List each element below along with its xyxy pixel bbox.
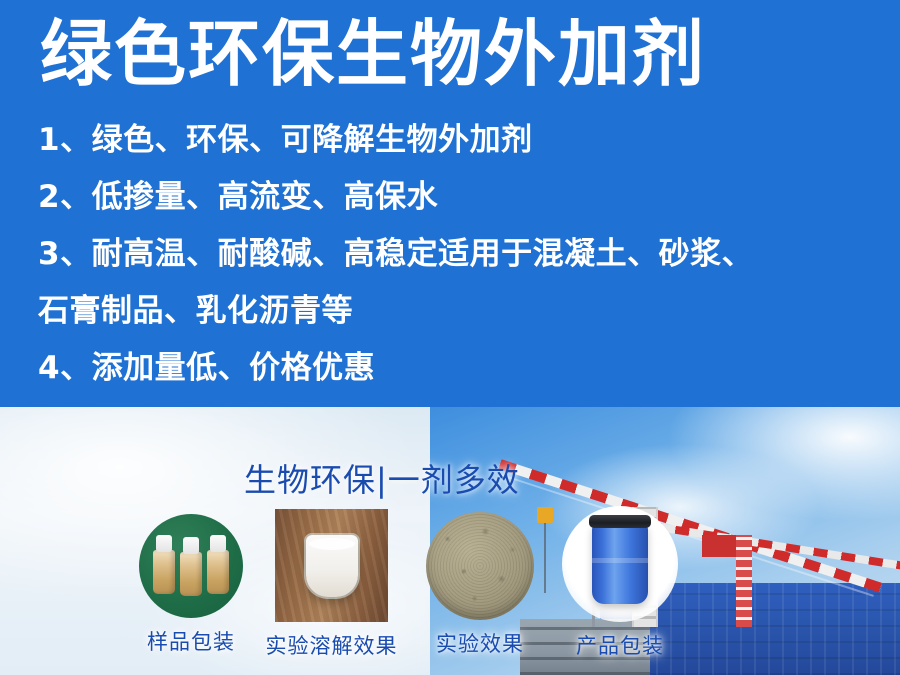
feature-item-3: 3、耐高温、耐酸碱、高稳定适用于混凝土、砂浆、 (38, 226, 878, 283)
gallery-item-caption: 实验效果 (436, 628, 524, 658)
gallery-item-experiment-result[interactable]: 实验效果 (426, 512, 534, 620)
construction-site-scene (480, 407, 900, 675)
feature-item-1: 1、绿色、环保、可降解生物外加剂 (38, 112, 878, 169)
gallery-item-sample-packaging[interactable]: 样品包装 (139, 514, 243, 618)
glass-beaker-icon (306, 535, 358, 597)
headline-panel: 绿色环保生物外加剂 1、绿色、环保、可降解生物外加剂 2、低掺量、高流变、高保水… (0, 0, 900, 407)
bottle-icon (153, 550, 175, 594)
gallery-item-caption: 产品包装 (576, 630, 664, 660)
feature-item-4: 4、添加量低、价格优惠 (38, 340, 878, 397)
feature-item-2: 2、低掺量、高流变、高保水 (38, 169, 878, 226)
dissolution-glass-icon (275, 509, 388, 622)
feature-list: 1、绿色、环保、可降解生物外加剂 2、低掺量、高流变、高保水 3、耐高温、耐酸碱… (38, 112, 878, 397)
tower-crane-jib-icon (498, 459, 882, 592)
gallery-item-caption: 实验溶解效果 (266, 630, 398, 660)
gallery-item-dissolution-effect[interactable]: 实验溶解效果 (275, 509, 388, 622)
gallery-subtitle: 生物环保|一剂多效 (244, 455, 520, 501)
mortar-sample-icon (426, 512, 534, 620)
product-poster: 绿色环保生物外加剂 1、绿色、环保、可降解生物外加剂 2、低掺量、高流变、高保水… (0, 0, 900, 675)
crane-hoist-line-icon (544, 511, 546, 593)
bottle-icon (180, 552, 202, 596)
page-title: 绿色环保生物外加剂 (40, 10, 870, 98)
sample-bottles-icon (139, 514, 243, 618)
crane-mast-secondary-icon (736, 535, 752, 627)
crane-hook-icon (537, 507, 553, 523)
gallery-item-caption: 样品包装 (147, 626, 235, 656)
gallery-item-product-packaging[interactable]: 产品包装 (562, 506, 678, 622)
bottle-icon (207, 550, 229, 594)
plastic-barrel-icon (592, 522, 648, 604)
blue-drum-icon (562, 506, 678, 622)
feature-item-3-continued: 石膏制品、乳化沥青等 (38, 283, 878, 340)
